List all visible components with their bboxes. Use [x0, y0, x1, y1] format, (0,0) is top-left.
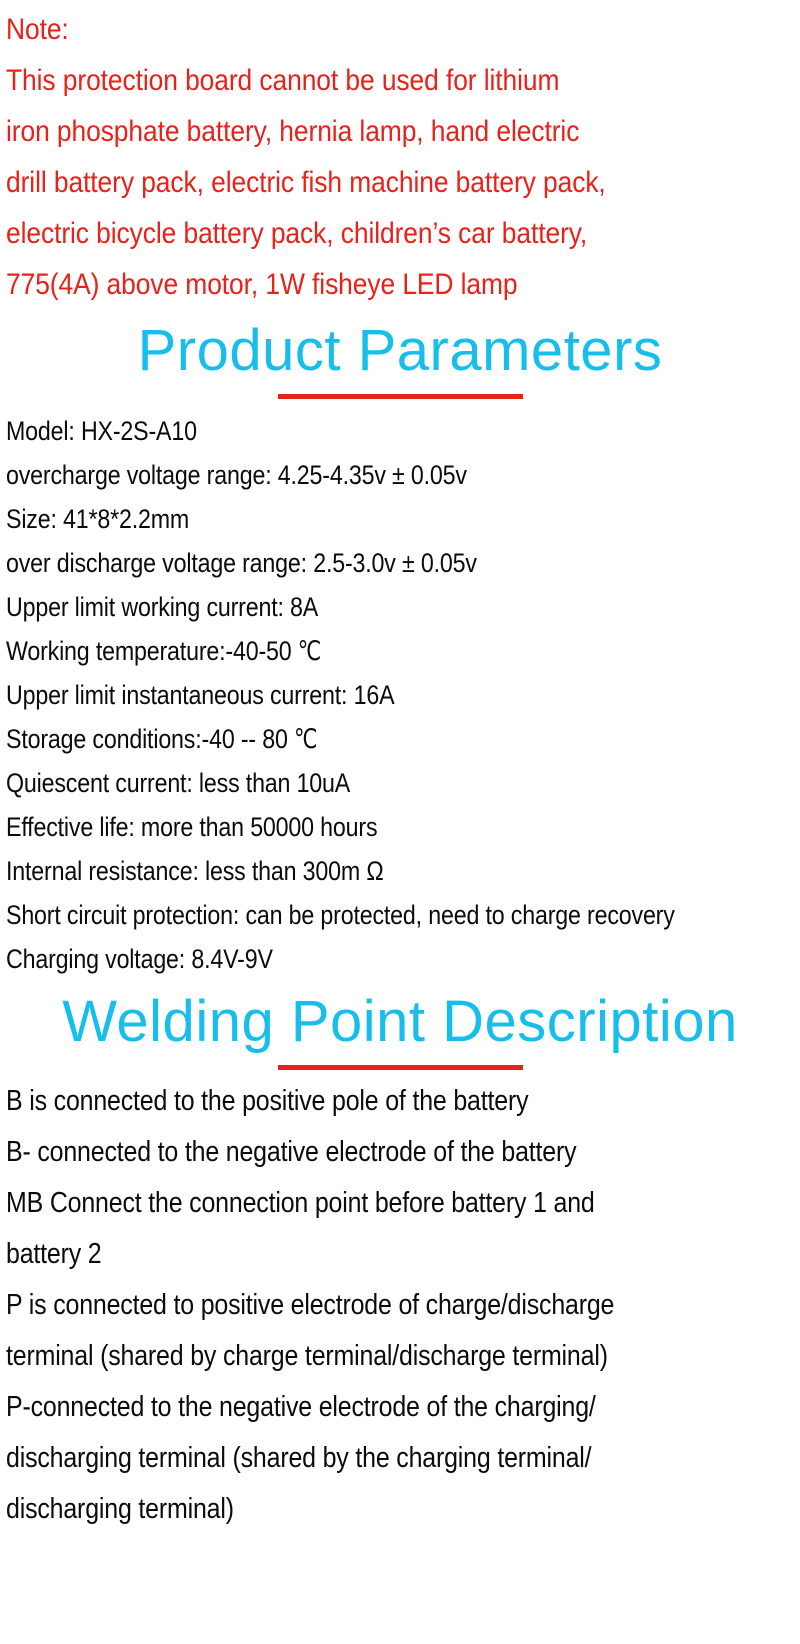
spec-line-working-temperature: Working temperature:-40-50 ℃ — [6, 629, 685, 673]
product-parameters-heading: Product Parameters — [0, 318, 800, 384]
spec-line-working-current: Upper limit working current: 8A — [6, 585, 685, 629]
desc-line-b-positive: B is connected to the positive pole of t… — [6, 1076, 685, 1127]
desc-line-p-positive: P is connected to positive electrode of … — [6, 1280, 685, 1331]
spec-line-charging-voltage: Charging voltage: 8.4V-9V — [6, 937, 685, 981]
desc-line-p-negative-cont2: discharging terminal) — [6, 1484, 685, 1535]
product-parameters-section: Product Parameters — [0, 318, 800, 399]
spec-line-quiescent-current: Quiescent current: less than 10uA — [6, 761, 685, 805]
note-line: iron phosphate battery, hernia lamp, han… — [6, 106, 699, 157]
welding-point-section: Welding Point Description — [0, 989, 800, 1070]
note-line: 775(4A) above motor, 1W fisheye LED lamp — [6, 259, 699, 310]
spec-line-instantaneous-current: Upper limit instantaneous current: 16A — [6, 673, 685, 717]
desc-line-b-negative: B- connected to the negative electrode o… — [6, 1127, 685, 1178]
spec-line-over-discharge-voltage: over discharge voltage range: 2.5-3.0v ±… — [6, 541, 685, 585]
spec-line-size: Size: 41*8*2.2mm — [6, 497, 685, 541]
desc-line-mb-connect: MB Connect the connection point before b… — [6, 1178, 685, 1229]
desc-line-p-negative: P-connected to the negative electrode of… — [6, 1382, 685, 1433]
note-line: electric bicycle battery pack, children’… — [6, 208, 699, 259]
welding-point-heading: Welding Point Description — [0, 989, 800, 1055]
desc-line-p-negative-cont: discharging terminal (shared by the char… — [6, 1433, 685, 1484]
note-title: Note: — [6, 4, 699, 55]
welding-point-underline — [278, 1065, 523, 1070]
product-parameters-list: Model: HX-2S-A10 overcharge voltage rang… — [0, 409, 800, 981]
spec-line-internal-resistance: Internal resistance: less than 300m Ω — [6, 849, 685, 893]
product-parameters-underline — [278, 394, 523, 399]
desc-line-p-positive-cont: terminal (shared by charge terminal/disc… — [6, 1331, 685, 1382]
welding-point-list: B is connected to the positive pole of t… — [0, 1076, 800, 1535]
spec-line-short-circuit-protection: Short circuit protection: can be protect… — [6, 893, 685, 937]
note-line: This protection board cannot be used for… — [6, 55, 699, 106]
spec-line-storage-conditions: Storage conditions:-40 -- 80 ℃ — [6, 717, 685, 761]
desc-line-mb-connect-cont: battery 2 — [6, 1229, 685, 1280]
note-line: drill battery pack, electric fish machin… — [6, 157, 699, 208]
spec-line-effective-life: Effective life: more than 50000 hours — [6, 805, 685, 849]
spec-line-overcharge-voltage: overcharge voltage range: 4.25-4.35v ± 0… — [6, 453, 685, 497]
spec-line-model: Model: HX-2S-A10 — [6, 409, 685, 453]
note-block: Note: This protection board cannot be us… — [0, 0, 800, 310]
